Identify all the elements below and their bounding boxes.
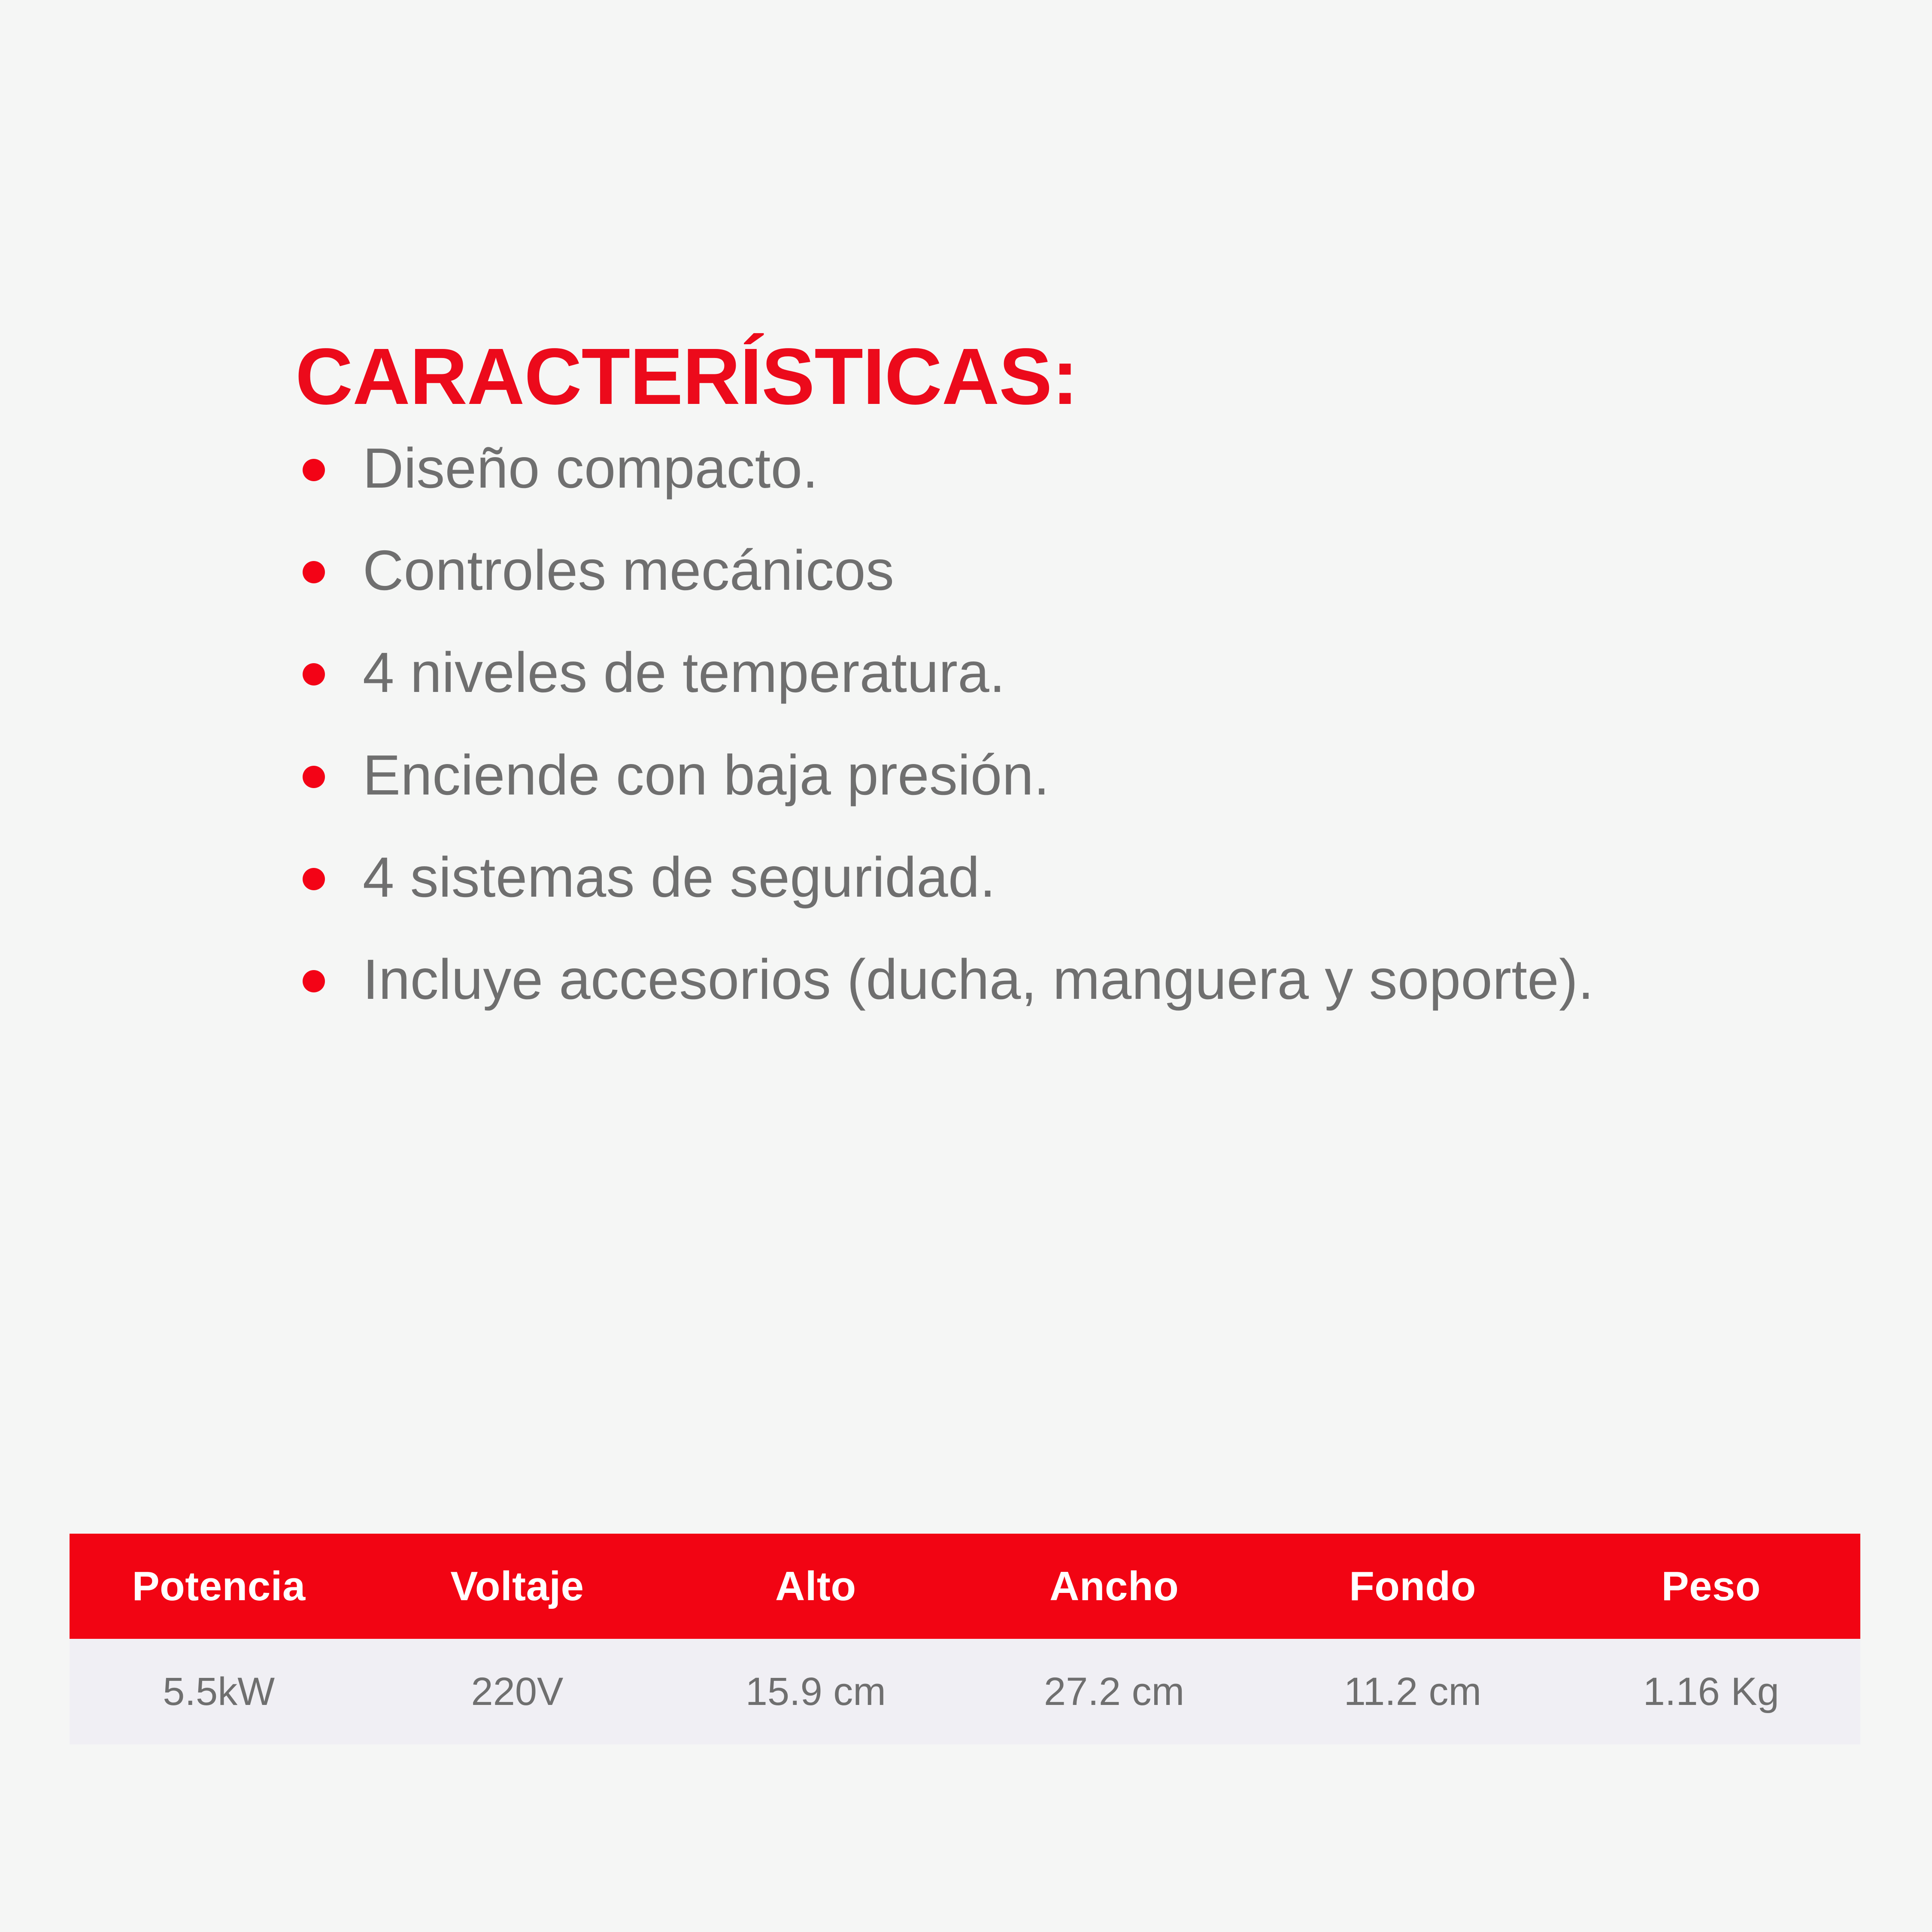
list-item: Enciende con baja presión.: [283, 730, 1743, 820]
column-header-voltaje: Voltaje: [368, 1534, 666, 1639]
bullet-icon: [303, 970, 325, 992]
list-item: 4 niveles de temperatura.: [283, 627, 1743, 718]
cell-alto: 15.9 cm: [667, 1639, 965, 1744]
list-item-label: Controles mecánicos: [363, 525, 1743, 616]
list-item: Diseño compacto.: [283, 423, 1743, 513]
bullet-icon: [303, 459, 325, 481]
column-header-alto: Alto: [667, 1534, 965, 1639]
bullet-icon: [303, 561, 325, 583]
bullet-icon: [303, 663, 325, 685]
table-body: 5.5kW 220V 15.9 cm 27.2 cm 11.2 cm 1.16 …: [70, 1639, 1860, 1744]
table-row: 5.5kW 220V 15.9 cm 27.2 cm 11.2 cm 1.16 …: [70, 1639, 1860, 1744]
cell-voltaje: 220V: [368, 1639, 666, 1744]
list-item: Incluye accesorios (ducha, manguera y so…: [283, 934, 1743, 1025]
table-header: Potencia Voltaje Alto Ancho Fondo Peso: [70, 1534, 1860, 1639]
column-header-ancho: Ancho: [965, 1534, 1263, 1639]
cell-fondo: 11.2 cm: [1263, 1639, 1562, 1744]
list-item: 4 sistemas de seguridad.: [283, 832, 1743, 922]
list-item-label: Incluye accesorios (ducha, manguera y so…: [363, 934, 1743, 1025]
list-item-label: Enciende con baja presión.: [363, 730, 1743, 820]
cell-ancho: 27.2 cm: [965, 1639, 1263, 1744]
page-title: CARACTERÍSTICAS:: [295, 335, 1078, 419]
list-item-label: 4 niveles de temperatura.: [363, 627, 1743, 718]
features-list: Diseño compacto. Controles mecánicos 4 n…: [283, 423, 1743, 1036]
product-spec-sheet: CARACTERÍSTICAS: Diseño compacto. Contro…: [0, 0, 1932, 1932]
bullet-icon: [303, 868, 325, 890]
bullet-icon: [303, 766, 325, 788]
cell-potencia: 5.5kW: [70, 1639, 368, 1744]
list-item-label: Diseño compacto.: [363, 423, 1743, 513]
column-header-potencia: Potencia: [70, 1534, 368, 1639]
list-item: Controles mecánicos: [283, 525, 1743, 616]
cell-peso: 1.16 Kg: [1562, 1639, 1860, 1744]
list-item-label: 4 sistemas de seguridad.: [363, 832, 1743, 922]
column-header-fondo: Fondo: [1263, 1534, 1562, 1639]
table-header-row: Potencia Voltaje Alto Ancho Fondo Peso: [70, 1534, 1860, 1639]
specifications-table: Potencia Voltaje Alto Ancho Fondo Peso 5…: [70, 1534, 1860, 1744]
column-header-peso: Peso: [1562, 1534, 1860, 1639]
